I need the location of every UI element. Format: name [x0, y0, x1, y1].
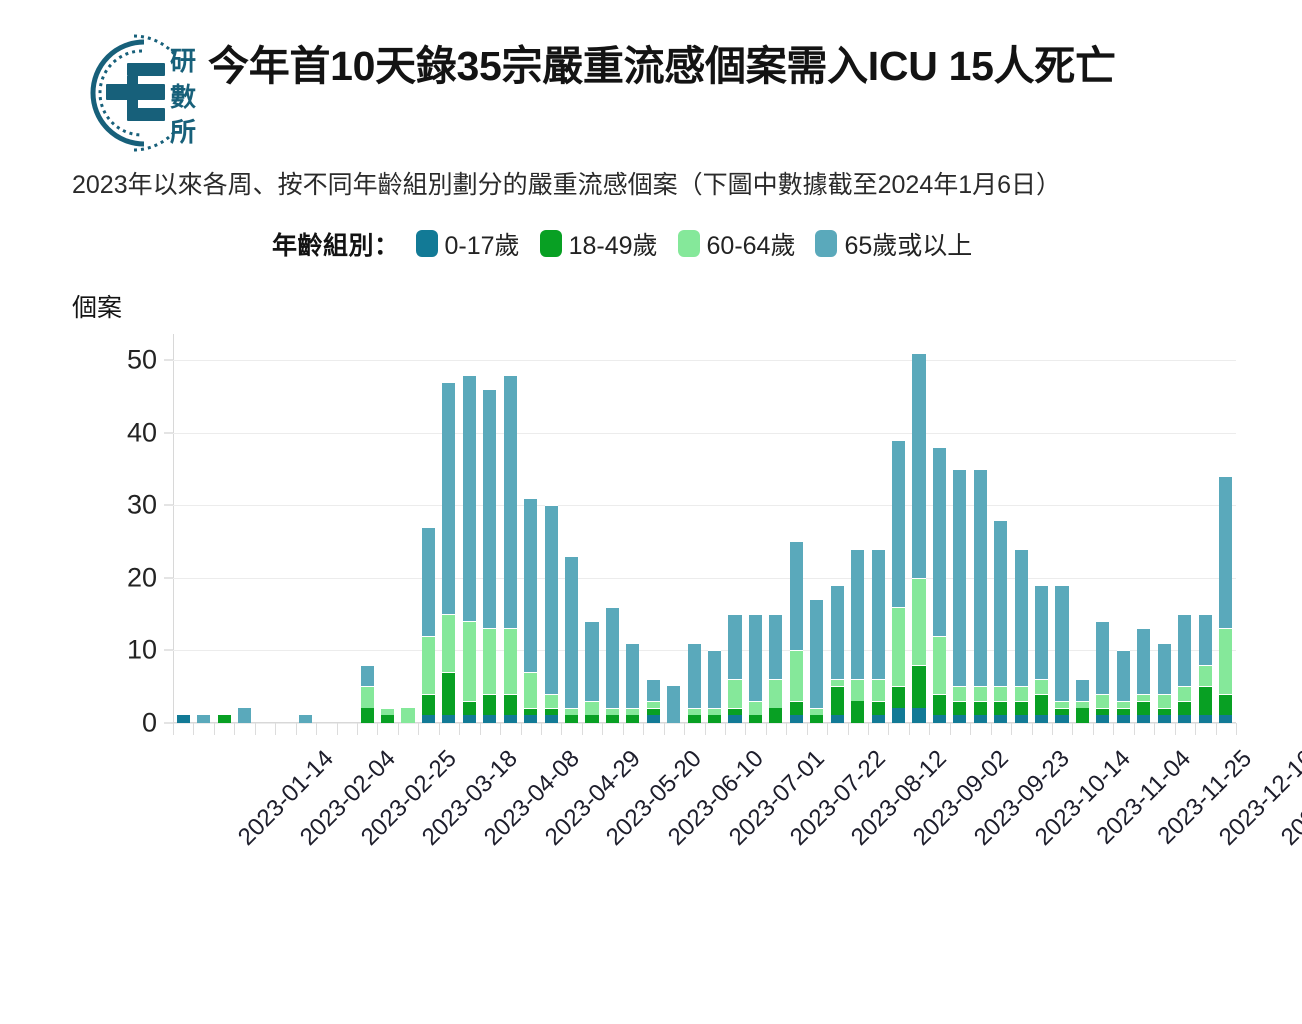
bar-segment	[1117, 650, 1130, 701]
bar-segment	[401, 708, 414, 723]
bar-slot[interactable]	[602, 346, 622, 723]
bar-segment	[912, 708, 925, 723]
bar-slot[interactable]	[439, 346, 459, 723]
bar-segment	[545, 708, 558, 715]
bar-segment	[953, 686, 966, 701]
bar-segment	[1158, 708, 1171, 715]
bar-segment	[218, 715, 231, 722]
bar-segment	[524, 672, 537, 708]
bar-segment	[585, 715, 598, 722]
bar-stack[interactable]	[504, 375, 517, 723]
bar-slot[interactable]	[520, 346, 540, 723]
bar-stack[interactable]	[177, 715, 190, 722]
bar-segment	[728, 708, 741, 715]
bar-segment	[585, 621, 598, 701]
legend-label: 60-64歲	[707, 226, 796, 262]
bar-segment	[463, 375, 476, 622]
bar-stack[interactable]	[1015, 549, 1028, 723]
bar-slot[interactable]	[704, 346, 724, 723]
bar-stack[interactable]	[626, 643, 639, 723]
bar-segment	[1178, 715, 1191, 722]
bar-stack[interactable]	[728, 614, 741, 723]
bar-segment	[912, 665, 925, 709]
bar-segment	[197, 715, 210, 722]
bar-segment	[585, 701, 598, 716]
bar-stack[interactable]	[769, 614, 782, 723]
bar-stack[interactable]	[238, 708, 251, 723]
bar-segment	[872, 701, 885, 716]
bar-segment	[442, 672, 455, 716]
bar-slot[interactable]	[725, 346, 745, 723]
y-axis-tick-label: 0	[142, 707, 157, 738]
bar-segment	[1158, 643, 1171, 694]
bar-slot[interactable]	[1072, 346, 1092, 723]
bar-slot[interactable]	[1134, 346, 1154, 723]
bar-stack[interactable]	[933, 447, 946, 723]
bar-segment	[892, 686, 905, 708]
bar-segment	[892, 440, 905, 607]
bar-segment	[1117, 701, 1130, 708]
bar-stack[interactable]	[810, 599, 823, 722]
bar-segment	[953, 715, 966, 722]
bar-segment	[606, 708, 619, 715]
bar-segment	[545, 694, 558, 709]
bar-segment	[1219, 694, 1232, 716]
bar-segment	[810, 708, 823, 715]
bar-segment	[994, 701, 1007, 716]
bar-stack[interactable]	[401, 708, 414, 723]
bar-stack[interactable]	[647, 679, 660, 723]
bar-segment	[749, 715, 762, 722]
legend-title: 年齡組別：	[272, 226, 400, 262]
bar-segment	[606, 715, 619, 722]
bar-segment	[422, 694, 435, 716]
bar-segment	[442, 715, 455, 722]
y-axis-tick-label: 20	[127, 562, 157, 593]
bar-slot[interactable]	[664, 346, 684, 723]
bar-segment	[1015, 686, 1028, 701]
bar-segment	[1076, 679, 1089, 701]
title-block: 今年首10天錄35宗嚴重流感個案需入ICU 15人死亡	[208, 34, 1116, 92]
bar-segment	[728, 679, 741, 708]
bar-segment	[1055, 708, 1068, 715]
bar-segment	[953, 701, 966, 716]
bar-stack[interactable]	[953, 469, 966, 723]
y-axis-tick-mark	[164, 505, 173, 506]
bar-segment	[831, 686, 844, 715]
bar-segment	[647, 708, 660, 715]
bar-segment	[994, 686, 1007, 701]
bar-segment	[933, 715, 946, 722]
bar-segment	[504, 375, 517, 629]
bar-slot[interactable]	[745, 346, 765, 723]
bar-segment	[974, 701, 987, 716]
bar-slot[interactable]	[623, 346, 643, 723]
bar-slot[interactable]	[1031, 346, 1051, 723]
bar-segment	[1117, 708, 1130, 715]
bar-segment	[1055, 701, 1068, 708]
bar-stack[interactable]	[218, 715, 231, 722]
legend-label: 18-49歲	[569, 226, 658, 262]
bar-slot[interactable]	[991, 346, 1011, 723]
bar-segment	[381, 708, 394, 715]
legend-item-0-17[interactable]: 0-17歲	[416, 226, 520, 262]
bar-stack[interactable]	[1035, 585, 1048, 723]
bar-slot[interactable]	[337, 346, 357, 723]
bar-stack[interactable]	[1076, 679, 1089, 723]
bar-segment	[1199, 614, 1212, 665]
bar-segment	[974, 686, 987, 701]
bar-segment	[810, 715, 823, 722]
bar-segment	[524, 715, 537, 722]
bar-segment	[1055, 585, 1068, 701]
y-axis-tick-label: 10	[127, 635, 157, 666]
bar-slot[interactable]	[296, 346, 316, 723]
bar-segment	[790, 650, 803, 701]
bar-slot[interactable]	[561, 346, 581, 723]
bar-segment	[1199, 665, 1212, 687]
bar-segment	[504, 628, 517, 693]
bar-segment	[483, 389, 496, 628]
bar-segment	[545, 505, 558, 694]
bar-slot[interactable]	[500, 346, 520, 723]
bar-segment	[483, 694, 496, 716]
bar-segment	[504, 715, 517, 722]
bar-slot[interactable]	[418, 346, 438, 723]
bar-segment	[381, 715, 394, 722]
bar-slot[interactable]	[684, 346, 704, 723]
bar-slot[interactable]	[786, 346, 806, 723]
bar-segment	[626, 643, 639, 708]
bar-segment	[872, 679, 885, 701]
bar-stack[interactable]	[197, 715, 210, 722]
bar-segment	[606, 607, 619, 709]
bar-stack[interactable]	[1219, 476, 1232, 723]
bar-stack[interactable]	[912, 353, 925, 723]
y-axis-tick-label: 40	[127, 417, 157, 448]
bar-slot[interactable]	[1174, 346, 1194, 723]
bar-segment	[708, 650, 721, 708]
bar-stack[interactable]	[667, 686, 680, 722]
bar-segment	[790, 541, 803, 650]
bar-segment	[912, 578, 925, 665]
bar-slot[interactable]	[480, 346, 500, 723]
bar-segment	[1096, 621, 1109, 694]
bar-slot[interactable]	[950, 346, 970, 723]
bar-slot[interactable]	[459, 346, 479, 723]
bar-segment	[238, 708, 251, 723]
y-axis-tick-label: 50	[127, 345, 157, 376]
bar-stack[interactable]	[483, 389, 496, 723]
bar-segment	[1158, 715, 1171, 722]
bar-segment	[463, 621, 476, 701]
bar-stack[interactable]	[585, 621, 598, 723]
bar-segment	[667, 686, 680, 722]
bar-segment	[831, 679, 844, 686]
bar-segment	[1219, 476, 1232, 628]
bar-segment	[442, 614, 455, 672]
bar-segment	[708, 715, 721, 722]
bar-stack[interactable]	[442, 382, 455, 723]
bar-segment	[1219, 628, 1232, 693]
y-axis-tick-mark	[164, 650, 173, 651]
bar-stack[interactable]	[749, 614, 762, 723]
bar-segment	[545, 715, 558, 722]
bar-segment	[1219, 715, 1232, 722]
legend-item-18-49[interactable]: 18-49歲	[540, 226, 658, 262]
bar-slot[interactable]	[1093, 346, 1113, 723]
legend-label: 65歲或以上	[844, 226, 972, 262]
bar-segment	[626, 715, 639, 722]
chart-container: 個案 01020304050 2023-01-142023-02-042023-…	[0, 288, 1302, 908]
x-axis-tick-mark	[1236, 723, 1237, 735]
bar-stack[interactable]	[1096, 621, 1109, 723]
bar-stack[interactable]	[381, 708, 394, 723]
bar-segment	[974, 715, 987, 722]
bar-slot[interactable]	[643, 346, 663, 723]
bar-segment	[851, 679, 864, 701]
bar-segment	[647, 679, 660, 701]
bar-slot[interactable]	[868, 346, 888, 723]
page-title: 今年首10天錄35宗嚴重流感個案需入ICU 15人死亡	[208, 40, 1116, 92]
bar-slot[interactable]	[888, 346, 908, 723]
bar-segment	[994, 715, 1007, 722]
bar-segment	[912, 353, 925, 578]
y-axis-tick-label: 30	[127, 490, 157, 521]
bar-segment	[1178, 614, 1191, 687]
bar-segment	[299, 715, 312, 722]
bar-slot[interactable]	[970, 346, 990, 723]
bar-slot[interactable]	[1113, 346, 1133, 723]
bar-slot[interactable]	[807, 346, 827, 723]
bar-stack[interactable]	[545, 505, 558, 723]
bar-segment	[851, 701, 864, 723]
bar-slot[interactable]	[1052, 346, 1072, 723]
bar-segment	[749, 701, 762, 716]
bar-slot[interactable]	[377, 346, 397, 723]
bar-segment	[1137, 701, 1150, 716]
bar-stack[interactable]	[994, 520, 1007, 723]
bar-stack[interactable]	[1158, 643, 1171, 723]
bar-segment	[565, 556, 578, 708]
bar-segment	[831, 585, 844, 679]
bar-slot[interactable]	[173, 346, 193, 723]
legend-swatch-icon	[678, 230, 700, 257]
bar-stack[interactable]	[790, 541, 803, 722]
bar-series-layer	[173, 346, 1236, 723]
bar-segment	[933, 447, 946, 636]
bar-segment	[872, 715, 885, 722]
bar-slot[interactable]	[827, 346, 847, 723]
bar-slot[interactable]	[193, 346, 213, 723]
bar-slot[interactable]	[541, 346, 561, 723]
chart-legend: 年齡組別： 0-17歲 18-49歲 60-64歲 65歲或以上	[272, 226, 1302, 262]
bar-segment	[1178, 701, 1191, 716]
bar-slot[interactable]	[847, 346, 867, 723]
bar-segment	[1117, 715, 1130, 722]
bar-segment	[831, 715, 844, 722]
bar-segment	[769, 614, 782, 679]
svg-text:數: 數	[170, 83, 196, 113]
bar-slot[interactable]	[214, 346, 234, 723]
bar-segment	[1035, 694, 1048, 716]
bar-stack[interactable]	[1055, 585, 1068, 723]
bar-segment	[1096, 715, 1109, 722]
bar-slot[interactable]	[929, 346, 949, 723]
bar-stack[interactable]	[851, 549, 864, 723]
bar-segment	[422, 636, 435, 694]
bar-segment	[1096, 694, 1109, 709]
bar-segment	[524, 708, 537, 715]
bar-segment	[953, 469, 966, 687]
y-axis-title: 個案	[72, 288, 122, 324]
bar-slot[interactable]	[255, 346, 275, 723]
bar-slot[interactable]	[234, 346, 254, 723]
bar-stack[interactable]	[872, 549, 885, 723]
bar-segment	[626, 708, 639, 715]
bar-segment	[1015, 701, 1028, 716]
bar-segment	[728, 614, 741, 679]
bar-stack[interactable]	[422, 527, 435, 723]
bar-stack[interactable]	[892, 440, 905, 723]
bar-segment	[463, 701, 476, 716]
bar-stack[interactable]	[1178, 614, 1191, 723]
bar-segment	[769, 708, 782, 723]
legend-item-65-plus[interactable]: 65歲或以上	[815, 226, 972, 262]
bar-segment	[422, 715, 435, 722]
bar-segment	[1035, 585, 1048, 679]
page-subtitle: 2023年以來各周、按不同年齡組別劃分的嚴重流感個案（下圖中數據截至2024年1…	[72, 168, 1252, 204]
y-axis-tick-mark	[164, 722, 173, 723]
bar-stack[interactable]	[688, 643, 701, 723]
bar-segment	[361, 686, 374, 708]
bar-segment	[524, 498, 537, 672]
bar-segment	[1137, 715, 1150, 722]
bar-segment	[483, 628, 496, 693]
bar-segment	[708, 708, 721, 715]
bar-segment	[769, 679, 782, 708]
bar-segment	[1035, 715, 1048, 722]
bar-segment	[851, 549, 864, 680]
brand-logo: 研 數 所	[72, 34, 200, 152]
bar-segment	[1158, 694, 1171, 709]
bar-segment	[728, 715, 741, 722]
bar-segment	[442, 382, 455, 614]
bar-slot[interactable]	[1154, 346, 1174, 723]
svg-text:所: 所	[170, 118, 196, 148]
bar-segment	[872, 549, 885, 680]
bar-slot[interactable]	[398, 346, 418, 723]
bar-stack[interactable]	[299, 715, 312, 722]
bar-segment	[688, 715, 701, 722]
bar-segment	[647, 701, 660, 708]
bar-segment	[361, 708, 374, 723]
svg-text:研: 研	[170, 47, 196, 77]
bar-segment	[1199, 715, 1212, 722]
bar-segment	[565, 708, 578, 715]
bar-segment	[1035, 679, 1048, 694]
bar-stack[interactable]	[1137, 628, 1150, 722]
y-axis-tick-mark	[164, 360, 173, 361]
bar-stack[interactable]	[974, 469, 987, 723]
bar-segment	[933, 694, 946, 716]
y-axis-tick-mark	[164, 577, 173, 578]
bar-segment	[361, 665, 374, 687]
bar-segment	[892, 708, 905, 723]
bar-stack[interactable]	[361, 665, 374, 723]
bar-segment	[688, 708, 701, 715]
legend-item-60-64[interactable]: 60-64歲	[678, 226, 796, 262]
bar-segment	[994, 520, 1007, 687]
bar-stack[interactable]	[463, 375, 476, 723]
bar-segment	[810, 599, 823, 708]
bar-segment	[177, 715, 190, 722]
bar-stack[interactable]	[1199, 614, 1212, 723]
bar-segment	[463, 715, 476, 722]
y-axis-tick-mark	[164, 432, 173, 433]
bar-slot[interactable]	[275, 346, 295, 723]
bar-segment	[1076, 701, 1089, 708]
bar-segment	[1015, 549, 1028, 687]
plot-area: 01020304050 2023-01-142023-02-042023-02-…	[173, 346, 1236, 723]
legend-swatch-icon	[540, 230, 562, 257]
bar-stack[interactable]	[606, 607, 619, 723]
page-header: 研 數 所 今年首10天錄35宗嚴重流感個案需入ICU 15人死亡	[0, 0, 1302, 152]
bar-slot[interactable]	[1011, 346, 1031, 723]
bar-segment	[790, 715, 803, 722]
bar-segment	[565, 715, 578, 722]
bar-segment	[1076, 708, 1089, 723]
bar-slot[interactable]	[316, 346, 336, 723]
bar-segment	[483, 715, 496, 722]
bar-segment	[1015, 715, 1028, 722]
x-axis-labels: 2023-01-142023-02-042023-02-252023-03-18…	[173, 723, 1236, 883]
bar-stack[interactable]	[565, 556, 578, 723]
bar-stack[interactable]	[708, 650, 721, 723]
bar-segment	[422, 527, 435, 636]
bar-segment	[688, 643, 701, 708]
bar-segment	[1055, 715, 1068, 722]
bar-segment	[647, 715, 660, 722]
bar-segment	[1137, 694, 1150, 701]
bar-segment	[749, 614, 762, 701]
bar-slot[interactable]	[766, 346, 786, 723]
bar-stack[interactable]	[524, 498, 537, 723]
bar-segment	[974, 469, 987, 687]
bar-segment	[504, 694, 517, 716]
bar-segment	[1096, 708, 1109, 715]
bar-slot[interactable]	[1215, 346, 1235, 723]
bar-segment	[1199, 686, 1212, 715]
bar-slot[interactable]	[582, 346, 602, 723]
bar-stack[interactable]	[831, 585, 844, 723]
bar-segment	[933, 636, 946, 694]
legend-swatch-icon	[416, 230, 438, 257]
legend-label: 0-17歲	[445, 226, 520, 262]
bar-slot[interactable]	[357, 346, 377, 723]
legend-swatch-icon	[815, 230, 837, 257]
bar-slot[interactable]	[909, 346, 929, 723]
bar-slot[interactable]	[1195, 346, 1215, 723]
bar-segment	[892, 607, 905, 687]
bar-stack[interactable]	[1117, 650, 1130, 723]
bar-segment	[1137, 628, 1150, 693]
bar-segment	[1178, 686, 1191, 701]
bar-segment	[790, 701, 803, 716]
